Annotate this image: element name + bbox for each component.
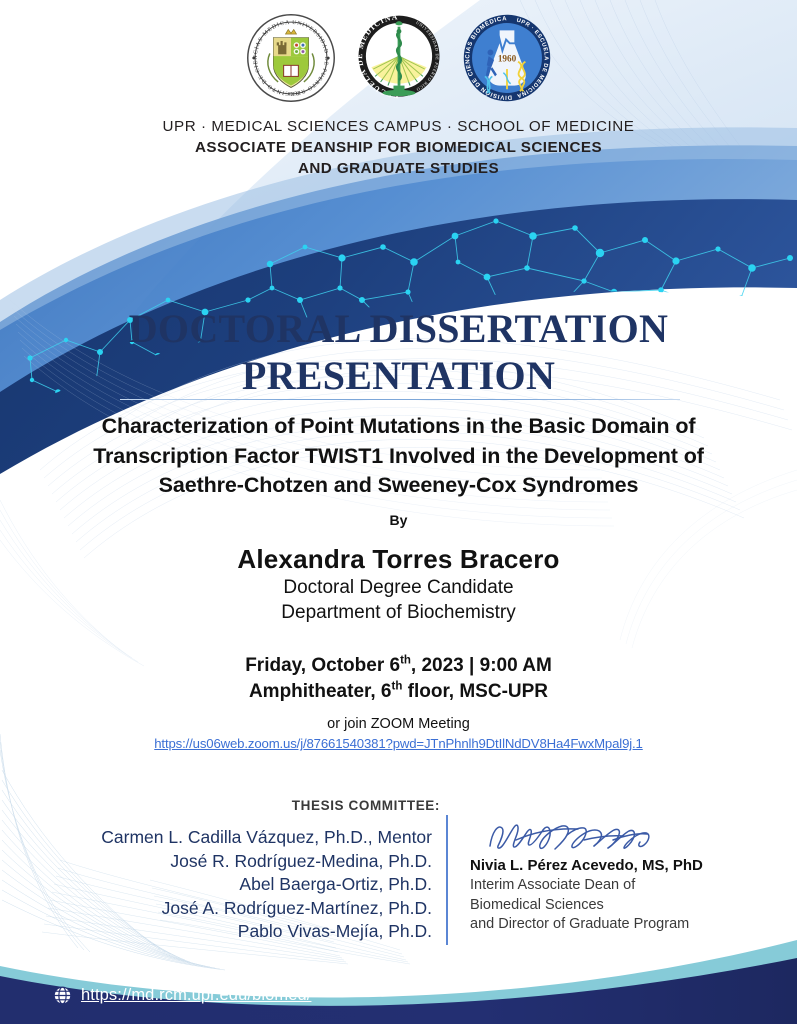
event-details: Friday, October 6th, 2023 | 9:00 AM Amph… [0, 653, 797, 705]
dissertation-title-line-3: Saethre-Chotzen and Sweeney-Cox Syndrome… [0, 471, 797, 501]
footer-website-url: https://md.rcm.upr.edu/biomed/ [81, 986, 311, 1005]
author-block: Alexandra Torres Bracero Doctoral Degree… [0, 543, 797, 625]
institution-header: UPR · MEDICAL SCIENCES CAMPUS · SCHOOL O… [0, 116, 797, 179]
committee-member: Pablo Vivas-Mejía, Ph.D. [0, 920, 432, 944]
signatory-role-line-1: Interim Associate Dean of [470, 876, 770, 896]
page-title-line-2: PRESENTATION [0, 352, 797, 399]
event-venue-prefix: Amphitheater, 6 [249, 681, 392, 702]
event-date-day: Friday, October 6 [245, 655, 400, 676]
zoom-meeting-label: or join ZOOM Meeting [0, 715, 797, 734]
thesis-committee-list: Carmen L. Cadilla Vázquez, Ph.D., Mentor… [0, 826, 432, 944]
title-divider [120, 399, 680, 400]
committee-member: Carmen L. Cadilla Vázquez, Ph.D., Mentor [0, 826, 432, 850]
signatory-name: Nivia L. Pérez Acevedo, MS, PhD [470, 855, 770, 876]
svg-text:1960: 1960 [497, 54, 516, 64]
header-line-graduate-studies: AND GRADUATE STUDIES [0, 158, 797, 179]
dissertation-title: Characterization of Point Mutations in t… [0, 412, 797, 501]
page-title: DOCTORAL DISSERTATION PRESENTATION [0, 305, 797, 399]
institutional-logos: RECINTO DE CIENCIAS MEDICAS UNIVERSIDAD … [0, 12, 797, 104]
signature-block: Nivia L. Pérez Acevedo, MS, PhD Interim … [470, 820, 770, 935]
thesis-committee-heading: THESIS COMMITTEE: [0, 798, 440, 813]
event-date: Friday, October 6th, 2023 | 9:00 AM [0, 653, 797, 679]
header-line-deanship: ASSOCIATE DEANSHIP FOR BIOMEDICAL SCIENC… [0, 137, 797, 158]
author-name: Alexandra Torres Bracero [0, 543, 797, 575]
upr-medical-sciences-campus-seal: RECINTO DE CIENCIAS MEDICAS UNIVERSIDAD … [245, 12, 337, 104]
handwritten-signature [486, 820, 686, 854]
committee-member: Abel Baerga-Ortiz, Ph.D. [0, 873, 432, 897]
footer-website-link[interactable]: https://md.rcm.upr.edu/biomed/ [53, 986, 311, 1005]
committee-member: José R. Rodríguez-Medina, Ph.D. [0, 850, 432, 874]
event-venue: Amphitheater, 6th floor, MSC-UPR [0, 679, 797, 705]
committee-member: José A. Rodríguez-Martínez, Ph.D. [0, 897, 432, 921]
event-date-ordinal: th [400, 655, 411, 667]
event-venue-rest: floor, MSC-UPR [402, 681, 548, 702]
signatory-role-line-3: and Director of Graduate Program [470, 915, 770, 935]
event-venue-ordinal: th [392, 681, 403, 693]
by-label: By [0, 512, 797, 528]
header-line-campus: UPR · MEDICAL SCIENCES CAMPUS · SCHOOL O… [0, 116, 797, 137]
section-vertical-divider [446, 815, 448, 945]
escuela-de-medicina-seal: ESCUELA DE MEDICINA UNIVERSIDAD DE PUERT… [353, 12, 445, 104]
division-ciencias-biomedicas-seal: DIVISIÓN DE CIENCIAS BIOMÉDICAS UPR · ES… [461, 12, 553, 104]
signatory-role-line-2: Biomedical Sciences [470, 896, 770, 916]
globe-icon [53, 986, 72, 1005]
page-title-line-1: DOCTORAL DISSERTATION [0, 305, 797, 352]
dissertation-title-line-2: Transcription Factor TWIST1 Involved in … [0, 442, 797, 472]
author-department: Department of Biochemistry [0, 600, 797, 625]
dissertation-announcement-poster: RECINTO DE CIENCIAS MEDICAS UNIVERSIDAD … [0, 0, 797, 1024]
dissertation-title-line-1: Characterization of Point Mutations in t… [0, 412, 797, 442]
author-role: Doctoral Degree Candidate [0, 575, 797, 600]
zoom-meeting-link[interactable]: https://us06web.zoom.us/j/87661540381?pw… [154, 735, 643, 752]
zoom-meeting-block: or join ZOOM Meeting https://us06web.zoo… [0, 715, 797, 753]
event-date-year-time: , 2023 | 9:00 AM [411, 655, 552, 676]
